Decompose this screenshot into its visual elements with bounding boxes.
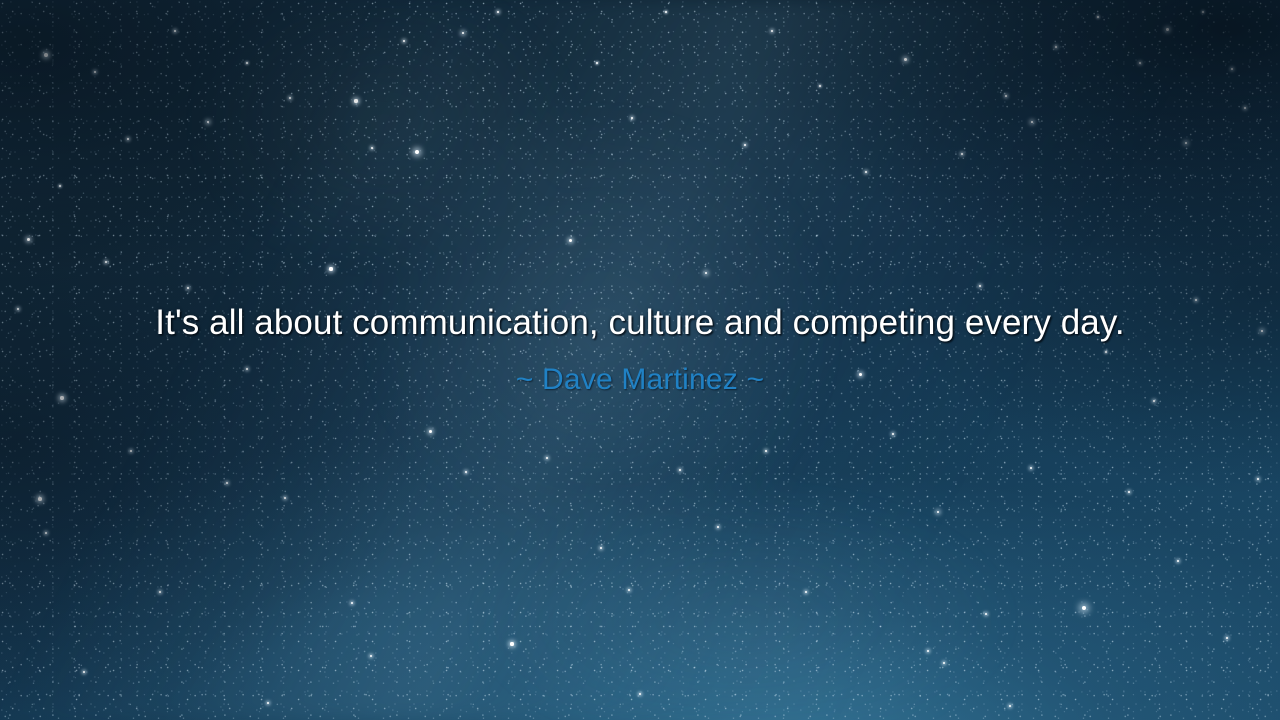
star: [1097, 16, 1099, 18]
star: [44, 53, 48, 57]
star: [1257, 478, 1259, 480]
star: [130, 450, 132, 452]
star: [705, 272, 708, 275]
star: [465, 471, 467, 473]
star: [174, 30, 176, 32]
star: [985, 613, 987, 615]
star: [429, 430, 432, 433]
star: [1009, 705, 1011, 707]
quote-slide: It's all about communication, culture an…: [0, 0, 1280, 720]
star: [284, 497, 286, 499]
star: [497, 11, 499, 13]
star: [246, 62, 248, 64]
star: [665, 11, 667, 13]
star: [45, 532, 47, 534]
star: [1031, 121, 1034, 124]
star: [904, 58, 907, 61]
star: [370, 655, 372, 657]
star: [546, 457, 548, 459]
star: [1082, 606, 1087, 611]
star: [159, 591, 161, 593]
star: [105, 261, 107, 263]
star: [805, 591, 807, 593]
star: [1153, 400, 1155, 402]
star: [892, 433, 894, 435]
star: [329, 267, 332, 270]
star: [289, 97, 291, 99]
star: [569, 239, 572, 242]
star: [1005, 95, 1007, 97]
star: [1244, 107, 1246, 109]
star: [187, 287, 190, 290]
star: [717, 526, 720, 529]
star: [865, 171, 867, 173]
star: [937, 511, 940, 514]
star: [639, 693, 641, 695]
star: [1185, 142, 1188, 145]
star: [351, 602, 354, 605]
star: [943, 662, 945, 664]
star: [679, 469, 681, 471]
star: [207, 121, 210, 124]
star: [226, 482, 228, 484]
star: [38, 497, 42, 501]
star: [27, 238, 30, 241]
quote-author: ~ Dave Martinez ~: [0, 361, 1280, 399]
star: [371, 147, 373, 149]
star: [1139, 62, 1141, 64]
quote-text: It's all about communication, culture an…: [0, 300, 1280, 345]
star: [510, 642, 513, 645]
star: [771, 30, 774, 33]
star: [83, 671, 85, 673]
star: [1202, 11, 1204, 13]
star: [267, 702, 269, 704]
star: [94, 71, 97, 74]
star: [596, 62, 598, 64]
star: [1055, 46, 1057, 48]
star: [1166, 28, 1169, 31]
star: [979, 285, 982, 288]
star: [1128, 491, 1130, 493]
star: [1226, 637, 1228, 639]
star: [600, 547, 602, 549]
star: [744, 144, 746, 146]
star: [415, 150, 419, 154]
star: [462, 32, 465, 35]
star: [1177, 560, 1180, 563]
star: [819, 85, 821, 87]
star: [1030, 467, 1032, 469]
star: [59, 185, 61, 187]
quote-block: It's all about communication, culture an…: [0, 300, 1280, 399]
star: [961, 153, 964, 156]
star: [631, 117, 634, 120]
star: [127, 138, 129, 140]
star: [403, 40, 405, 42]
star: [628, 589, 631, 592]
star: [765, 450, 767, 452]
star: [1231, 68, 1234, 71]
star: [927, 650, 930, 653]
star: [354, 99, 357, 102]
